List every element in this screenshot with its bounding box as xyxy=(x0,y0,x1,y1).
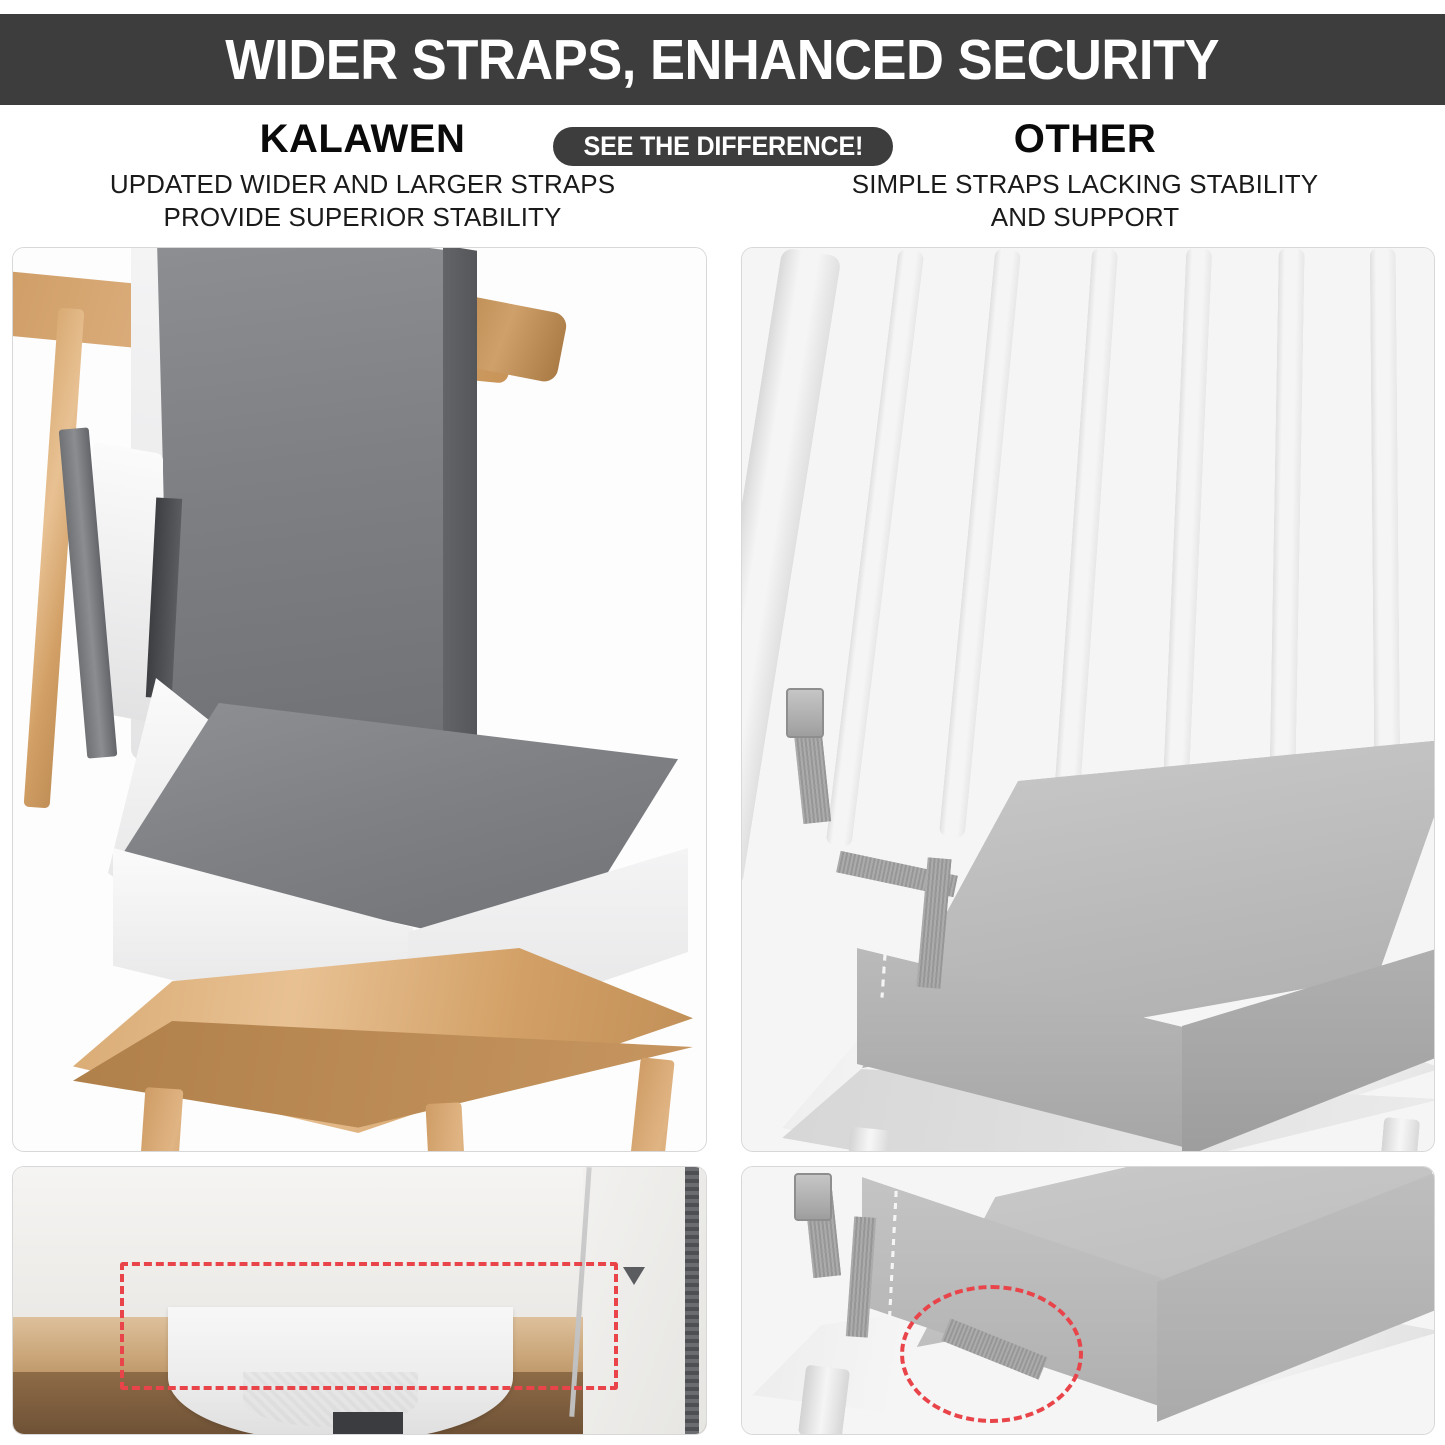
strap-buckle xyxy=(794,1173,832,1221)
other-description-line1: SIMPLE STRAPS LACKING STABILITY xyxy=(785,168,1385,201)
chair-spindle-5 xyxy=(1269,248,1305,793)
backrest-cushion-edge xyxy=(443,247,477,766)
kalawen-description: UPDATED WIDER AND LARGER STRAPS PROVIDE … xyxy=(60,168,665,235)
photo-panel-other-main xyxy=(741,247,1435,1152)
backrest-cushion-gray xyxy=(156,247,475,774)
other-description-line2: AND SUPPORT xyxy=(785,201,1385,234)
chair-spindle-4 xyxy=(1162,248,1213,814)
chair-spindle-3 xyxy=(1052,248,1118,828)
other-booster-scene xyxy=(742,248,1434,1151)
chair-spindle-2 xyxy=(939,248,1021,838)
chair-leg-front-left xyxy=(125,1087,184,1152)
wide-strap-highlight-rectangle xyxy=(120,1262,618,1390)
chair-spindle-6 xyxy=(1370,248,1401,768)
narrow-strap-detail-scene xyxy=(742,1167,1434,1434)
cushion-zipper xyxy=(685,1167,699,1434)
photo-panel-other-strap-detail xyxy=(741,1166,1435,1435)
header-banner: WIDER STRAPS, ENHANCED SECURITY xyxy=(0,14,1445,105)
strap-buckle xyxy=(786,688,824,738)
kalawen-booster-scene xyxy=(13,248,706,1151)
narrow-strap-highlight-ellipse xyxy=(900,1285,1083,1423)
chair-leg-center xyxy=(425,1102,476,1152)
kalawen-description-line2: PROVIDE SUPERIOR STABILITY xyxy=(60,201,665,234)
chair-leg-right xyxy=(605,1057,674,1152)
chair-leg-right xyxy=(1360,1117,1420,1152)
other-brand-title: OTHER xyxy=(785,118,1385,160)
photo-panel-kalawen-main xyxy=(12,247,707,1152)
chair-spindle-1 xyxy=(826,249,925,848)
strap-anchor-black xyxy=(333,1412,403,1434)
kalawen-description-line1: UPDATED WIDER AND LARGER STRAPS xyxy=(60,168,665,201)
banner-title: WIDER STRAPS, ENHANCED SECURITY xyxy=(226,27,1220,93)
other-description: SIMPLE STRAPS LACKING STABILITY AND SUPP… xyxy=(785,168,1385,235)
cushion-stitching xyxy=(880,668,906,997)
right-column-heading: OTHER SIMPLE STRAPS LACKING STABILITY AN… xyxy=(785,118,1385,235)
chair-leg xyxy=(798,1365,850,1435)
